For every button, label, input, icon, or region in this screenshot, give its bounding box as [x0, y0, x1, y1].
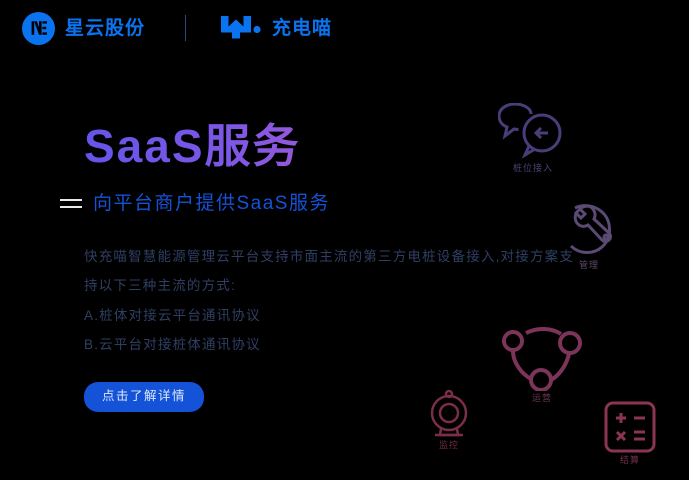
learn-more-button[interactable]: 点击了解详情 — [84, 382, 204, 412]
deco-item-label: 管理 — [579, 261, 599, 270]
wrench-gear-icon — [561, 204, 617, 258]
deco-item-label: 结算 — [620, 456, 640, 465]
header-divider — [185, 15, 186, 41]
brand-xingyun[interactable]: 星云股份 — [22, 12, 145, 45]
hero-subtitle-row: 向平台商户提供SaaS服务 — [60, 194, 604, 213]
deco-item-network: 运营 — [500, 325, 584, 403]
camera-monitor-icon — [424, 388, 474, 438]
page-root: 星云股份 充电喵 SaaS服务 向平台商户提供SaaS服务 快充喵智慧能源管理云… — [0, 0, 689, 480]
deco-item-manage: 管理 — [561, 204, 617, 270]
deco-item-access: 桩位接入 — [498, 103, 568, 173]
deco-item-label: 监控 — [439, 441, 459, 450]
deco-item-label: 运营 — [532, 394, 552, 403]
brand-xingyun-label: 星云股份 — [65, 19, 145, 38]
deco-item-settle: 结算 — [604, 401, 656, 465]
chat-bubbles-arrow-icon — [498, 103, 568, 161]
site-header: 星云股份 充电喵 — [0, 0, 689, 56]
brand-chargemeow[interactable]: 充电喵 — [220, 14, 332, 42]
charge-meow-mark-icon — [220, 14, 264, 42]
hamburger-icon — [60, 199, 84, 208]
ne-circle-logo-icon — [22, 12, 55, 45]
calculator-icon — [604, 401, 656, 453]
deco-item-label: 桩位接入 — [513, 164, 553, 173]
network-nodes-icon — [500, 325, 584, 391]
brand-chargemeow-label: 充电喵 — [272, 19, 332, 38]
deco-item-monitor: 监控 — [424, 388, 474, 450]
hero-description: 快充喵智慧能源管理云平台支持市面主流的第三方电桩设备接入,对接方案支持以下三种主… — [84, 242, 584, 300]
hero-subtitle: 向平台商户提供SaaS服务 — [93, 194, 330, 213]
